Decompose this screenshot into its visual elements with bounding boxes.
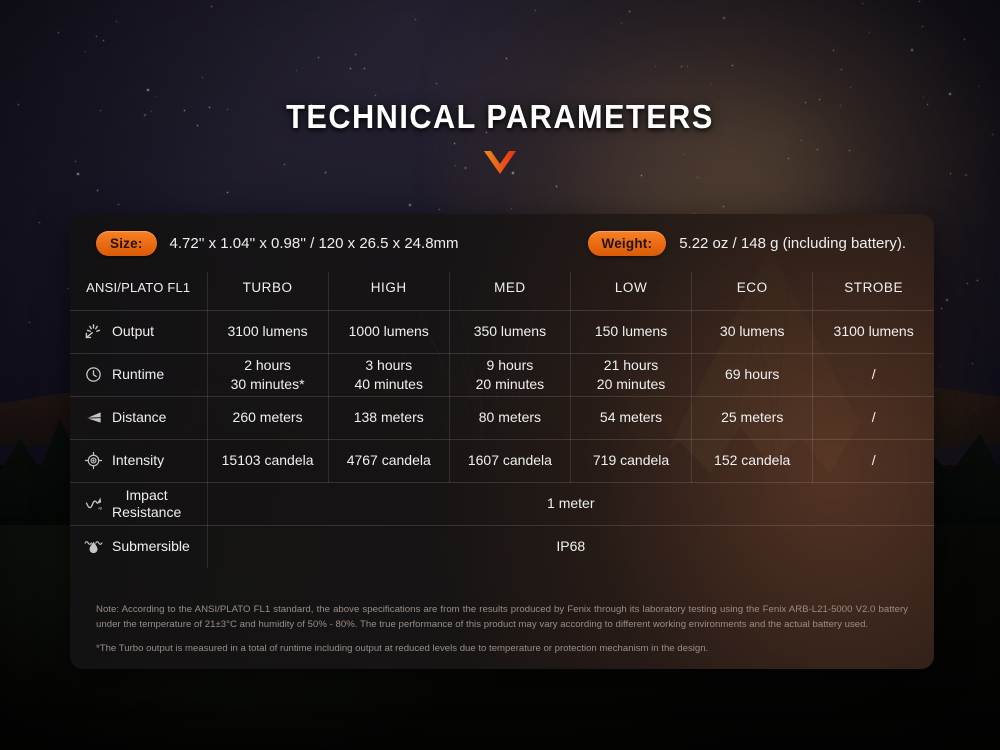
table-row: Output3100 lumens1000 lumens350 lumens15… (70, 310, 934, 353)
cell-intensity-eco: 152 candela (692, 439, 813, 482)
table-row: Intensity15103 candela4767 candela1607 c… (70, 439, 934, 482)
cell-runtime-strobe: / (813, 353, 934, 396)
row-header-impact-resistance: ImpactResistance (70, 482, 207, 525)
light-burst-icon (84, 322, 103, 341)
cell-runtime-high: 3 hours40 minutes (328, 353, 449, 396)
row-header-distance: Distance (70, 396, 207, 439)
cell-intensity-high: 4767 candela (328, 439, 449, 482)
cell-output-med: 350 lumens (449, 310, 570, 353)
column-header-strobe: STROBE (813, 272, 934, 310)
cell-output-high: 1000 lumens (328, 310, 449, 353)
column-header-high: HIGH (328, 272, 449, 310)
column-header-med: MED (449, 272, 570, 310)
table-header: ANSI/PLATO FL1TURBOHIGHMEDLOWECOSTROBE (70, 272, 934, 310)
weight-label-pill: Weight: (588, 231, 667, 256)
beam-distance-icon (84, 408, 103, 427)
impact-bounce-icon (84, 494, 103, 513)
row-header-intensity: Intensity (70, 439, 207, 482)
cell-intensity-low: 719 candela (570, 439, 691, 482)
cell-runtime-low: 21 hours20 minutes (570, 353, 691, 396)
weight-group: Weight: 5.22 oz / 148 g (including batte… (588, 231, 908, 256)
cell-impact-all-modes: 1 meter (207, 482, 934, 525)
technical-parameters-table: ANSI/PLATO FL1TURBOHIGHMEDLOWECOSTROBE O… (70, 272, 934, 568)
cell-runtime-eco: 69 hours (692, 353, 813, 396)
size-label-pill: Size: (96, 231, 157, 256)
table-row: SubmersibleIP68 (70, 525, 934, 568)
spec-panel: Size: 4.72'' x 1.04'' x 0.98'' / 120 x 2… (70, 214, 934, 669)
cell-submersible-all-modes: IP68 (207, 525, 934, 568)
cell-distance-turbo: 260 meters (207, 396, 328, 439)
cell-intensity-turbo: 15103 candela (207, 439, 328, 482)
cell-output-low: 150 lumens (570, 310, 691, 353)
notes-block: Note: According to the ANSI/PLATO FL1 st… (70, 594, 934, 669)
weight-value: 5.22 oz / 148 g (including battery). (679, 235, 906, 252)
row-header-label: Runtime (112, 366, 164, 383)
cell-output-strobe: 3100 lumens (813, 310, 934, 353)
page-title: TECHNICAL PARAMETERS (35, 98, 965, 136)
crosshair-intensity-icon (84, 451, 103, 470)
cell-intensity-strobe: / (813, 439, 934, 482)
cell-runtime-turbo: 2 hours30 minutes* (207, 353, 328, 396)
cell-distance-med: 80 meters (449, 396, 570, 439)
cell-distance-eco: 25 meters (692, 396, 813, 439)
size-weight-strip: Size: 4.72'' x 1.04'' x 0.98'' / 120 x 2… (70, 214, 934, 272)
cell-intensity-med: 1607 candela (449, 439, 570, 482)
row-header-label: ImpactResistance (112, 487, 181, 520)
size-group: Size: 4.72'' x 1.04'' x 0.98'' / 120 x 2… (96, 231, 459, 256)
water-drop-icon (84, 537, 103, 556)
cell-output-eco: 30 lumens (692, 310, 813, 353)
row-header-runtime: Runtime (70, 353, 207, 396)
row-header-submersible: Submersible (70, 525, 207, 568)
column-header-low: LOW (570, 272, 691, 310)
cell-distance-strobe: / (813, 396, 934, 439)
title-block: TECHNICAL PARAMETERS (0, 98, 1000, 158)
cell-output-turbo: 3100 lumens (207, 310, 328, 353)
row-header-label: Submersible (112, 538, 190, 555)
column-header-ansi-plato-fl1: ANSI/PLATO FL1 (70, 272, 207, 310)
table-row: Runtime2 hours30 minutes*3 hours40 minut… (70, 353, 934, 396)
cell-distance-high: 138 meters (328, 396, 449, 439)
row-header-output: Output (70, 310, 207, 353)
cell-runtime-med: 9 hours20 minutes (449, 353, 570, 396)
row-header-label: Output (112, 323, 154, 340)
table-body: Output3100 lumens1000 lumens350 lumens15… (70, 310, 934, 568)
column-header-turbo: TURBO (207, 272, 328, 310)
note-main: Note: According to the ANSI/PLATO FL1 st… (96, 603, 908, 632)
table-row: Distance260 meters138 meters80 meters54 … (70, 396, 934, 439)
size-value: 4.72'' x 1.04'' x 0.98'' / 120 x 26.5 x … (170, 235, 459, 252)
note-sub: *The Turbo output is measured in a total… (96, 642, 908, 656)
row-header-label: Distance (112, 409, 166, 426)
row-header-label-line2: Resistance (112, 504, 181, 520)
row-header-label: Intensity (112, 452, 164, 469)
column-header-eco: ECO (692, 272, 813, 310)
clock-icon (84, 365, 103, 384)
cell-distance-low: 54 meters (570, 396, 691, 439)
table-row: ImpactResistance1 meter (70, 482, 934, 525)
table-header-row: ANSI/PLATO FL1TURBOHIGHMEDLOWECOSTROBE (70, 272, 934, 310)
